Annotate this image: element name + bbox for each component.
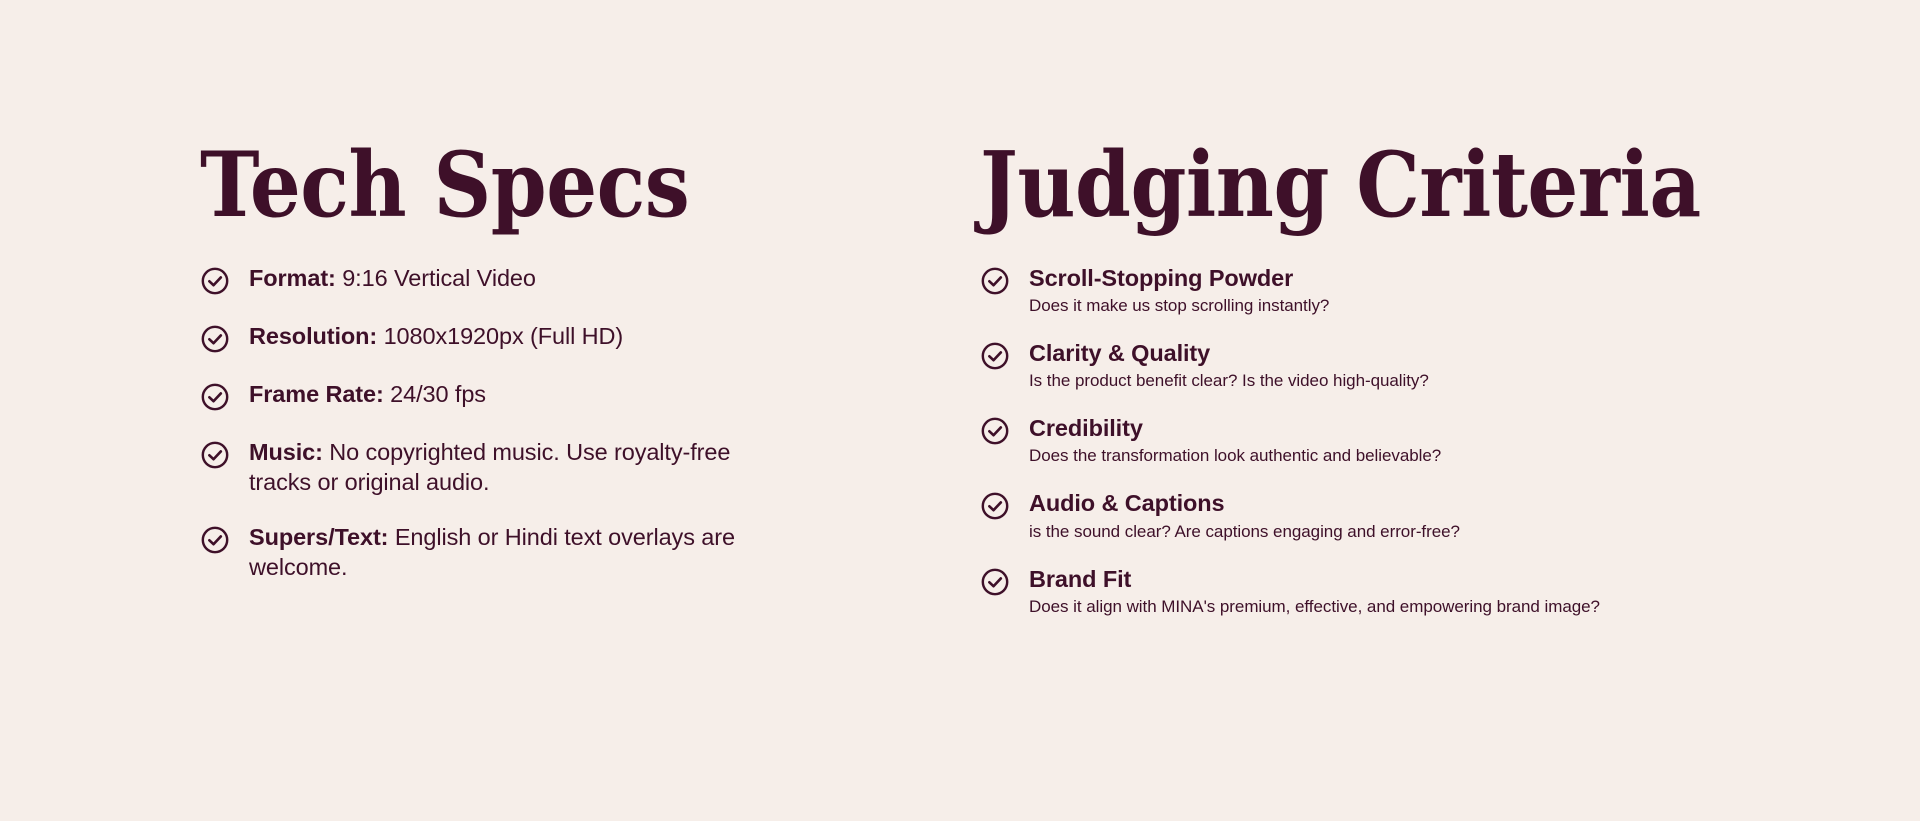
list-item: Frame Rate: 24/30 fps [200,380,790,412]
spec-label: Resolution: [249,323,377,349]
criteria-body: Credibility Does the transformation look… [1029,414,1441,468]
list-item: Brand Fit Does it align with MINA's prem… [980,565,1920,619]
spec-value: 24/30 fps [384,381,486,407]
criteria-title: Clarity & Quality [1029,339,1429,367]
spec-text: Resolution: 1080x1920px (Full HD) [249,322,623,352]
spec-label: Frame Rate: [249,381,384,407]
criteria-title: Brand Fit [1029,565,1600,593]
list-item: Audio & Captions is the sound clear? Are… [980,489,1920,543]
list-item: Scroll-Stopping Powder Does it make us s… [980,264,1920,318]
check-circle-icon [200,382,230,412]
judging-criteria-column: Judging Criteria Scroll-Stopping Powder … [790,0,1920,619]
check-circle-icon [200,324,230,354]
slide-root: Tech Specs Format: 9:16 Vertical Video [0,0,1920,821]
check-circle-icon [980,341,1010,371]
list-item: Supers/Text: English or Hindi text overl… [200,523,790,582]
criteria-body: Clarity & Quality Is the product benefit… [1029,339,1429,393]
spec-value: 1080x1920px (Full HD) [377,323,623,349]
check-circle-icon [980,266,1010,296]
judging-criteria-list: Scroll-Stopping Powder Does it make us s… [980,264,1920,619]
spec-text: Music: No copyrighted music. Use royalty… [249,438,790,497]
spec-label: Format: [249,265,336,291]
tech-specs-column: Tech Specs Format: 9:16 Vertical Video [0,0,790,582]
criteria-title: Scroll-Stopping Powder [1029,264,1329,292]
criteria-body: Brand Fit Does it align with MINA's prem… [1029,565,1600,619]
tech-specs-list: Format: 9:16 Vertical Video Resolution: … [200,264,790,582]
judging-criteria-heading: Judging Criteria [980,140,1920,230]
check-circle-icon [980,416,1010,446]
tech-specs-heading: Tech Specs [200,140,790,230]
check-circle-icon [980,567,1010,597]
criteria-description: Does it align with MINA's premium, effec… [1029,596,1600,619]
criteria-description: Does the transformation look authentic a… [1029,445,1441,468]
spec-text: Frame Rate: 24/30 fps [249,380,486,410]
check-circle-icon [200,266,230,296]
check-circle-icon [200,440,230,470]
two-column-layout: Tech Specs Format: 9:16 Vertical Video [0,0,1920,821]
check-circle-icon [980,491,1010,521]
list-item: Credibility Does the transformation look… [980,414,1920,468]
criteria-body: Scroll-Stopping Powder Does it make us s… [1029,264,1329,318]
list-item: Resolution: 1080x1920px (Full HD) [200,322,790,354]
criteria-description: Is the product benefit clear? Is the vid… [1029,370,1429,393]
spec-text: Supers/Text: English or Hindi text overl… [249,523,790,582]
check-circle-icon [200,525,230,555]
spec-value: 9:16 Vertical Video [336,265,536,291]
criteria-title: Credibility [1029,414,1441,442]
criteria-description: Does it make us stop scrolling instantly… [1029,295,1329,318]
criteria-description: is the sound clear? Are captions engagin… [1029,521,1460,544]
criteria-body: Audio & Captions is the sound clear? Are… [1029,489,1460,543]
criteria-title: Audio & Captions [1029,489,1460,517]
list-item: Music: No copyrighted music. Use royalty… [200,438,790,497]
spec-text: Format: 9:16 Vertical Video [249,264,536,294]
list-item: Clarity & Quality Is the product benefit… [980,339,1920,393]
spec-label: Music: [249,439,323,465]
spec-label: Supers/Text: [249,524,388,550]
list-item: Format: 9:16 Vertical Video [200,264,790,296]
